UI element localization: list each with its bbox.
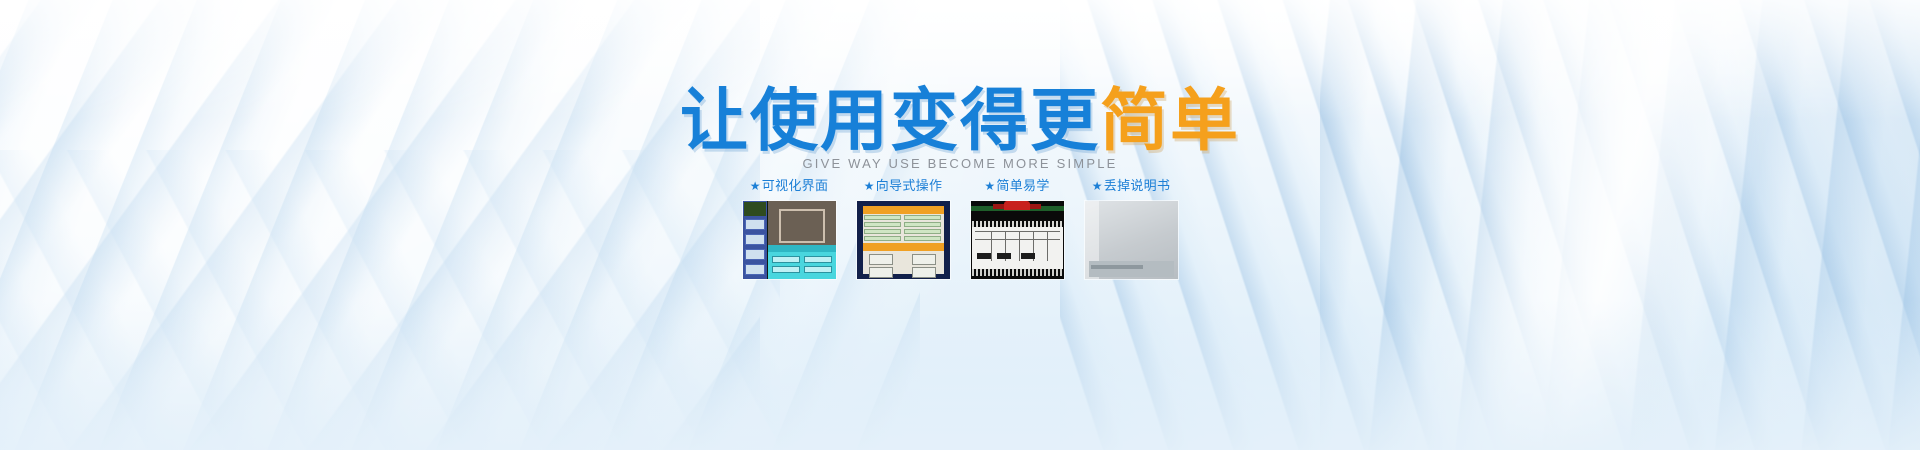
thumb-terminal-ticks-bottom [972,269,1063,276]
thumb-block [1021,253,1035,259]
thumb-block [977,253,991,259]
thumb-grid-cell [904,229,941,234]
thumb-button [912,267,936,278]
headline: 让使用变得更简单 [0,86,1920,158]
feature-label-text: 简单易学 [996,179,1049,194]
feature-list: ★可视化界面 [0,178,1920,279]
thumb-grid-cell [864,229,901,234]
feature-label: ★可视化界面 [750,178,829,195]
feature-label: ★简单易学 [984,178,1049,195]
feature-thumbnail-visual-interface[interactable] [743,201,836,279]
feature-thumbnail-easy-to-learn[interactable] [971,201,1064,279]
thumb-lower-band [1089,261,1174,277]
thumb-chip [772,256,800,263]
thumb-cyan-titlebar [768,245,836,252]
thumb-line [991,231,992,261]
star-icon: ★ [984,179,995,193]
thumb-frame-outline [779,209,825,243]
thumb-orange-header [863,243,944,251]
feature-label-text: 丢掉说明书 [1104,179,1171,194]
thumb-chip [804,256,832,263]
thumb-chip [772,266,800,273]
thumb-dark-strip [1091,265,1143,269]
thumb-grid-cell [904,215,941,220]
feature-item-discard-manual[interactable]: ★丢掉说明书 [1075,178,1187,279]
thumb-button [869,254,893,265]
thumb-red-part [1004,201,1030,210]
thumb-sidebar-button [745,219,765,230]
thumb-line [1019,231,1020,261]
feature-thumbnail-discard-manual[interactable] [1085,201,1178,279]
thumb-line [1047,231,1048,261]
star-icon: ★ [750,179,761,193]
feature-label: ★向导式操作 [864,178,943,195]
feature-label-text: 可视化界面 [762,179,829,194]
thumb-sidebar-button [745,264,765,275]
feature-thumbnail-wizard-operation[interactable] [857,201,950,279]
star-icon: ★ [1092,179,1103,193]
headline-subtitle: GIVE WAY USE BECOME MORE SIMPLE [0,156,1920,171]
thumb-button [869,267,893,278]
feature-label: ★丢掉说明书 [1092,178,1171,195]
thumb-schematic-sheet [972,227,1063,269]
thumb-sidebar-header [744,202,766,216]
thumb-orange-header [863,206,944,214]
thumb-button-grid [864,215,943,242]
feature-item-visual-interface[interactable]: ★可视化界面 [733,178,845,279]
hero-banner: 让使用变得更简单 GIVE WAY USE BECOME MORE SIMPLE… [0,0,1920,450]
thumb-sidebar-button [745,249,765,260]
thumb-block [997,253,1011,259]
star-icon: ★ [864,179,875,193]
feature-item-easy-to-learn[interactable]: ★简单易学 [961,178,1073,279]
thumb-sidebar-button [745,234,765,245]
thumb-button [912,254,936,265]
headline-primary-text: 让使用变得更 [680,82,1100,161]
thumb-grid-cell [904,222,941,227]
thumb-grid-cell [864,236,901,241]
headline-accent-text: 简单 [1100,82,1240,161]
thumb-grid-cell [864,215,901,220]
feature-label-text: 向导式操作 [876,179,943,194]
thumb-chip [804,266,832,273]
thumb-grid-cell [864,222,901,227]
feature-item-wizard-operation[interactable]: ★向导式操作 [847,178,959,279]
thumb-grid-cell [904,236,941,241]
banner-content: 让使用变得更简单 GIVE WAY USE BECOME MORE SIMPLE… [0,0,1920,450]
